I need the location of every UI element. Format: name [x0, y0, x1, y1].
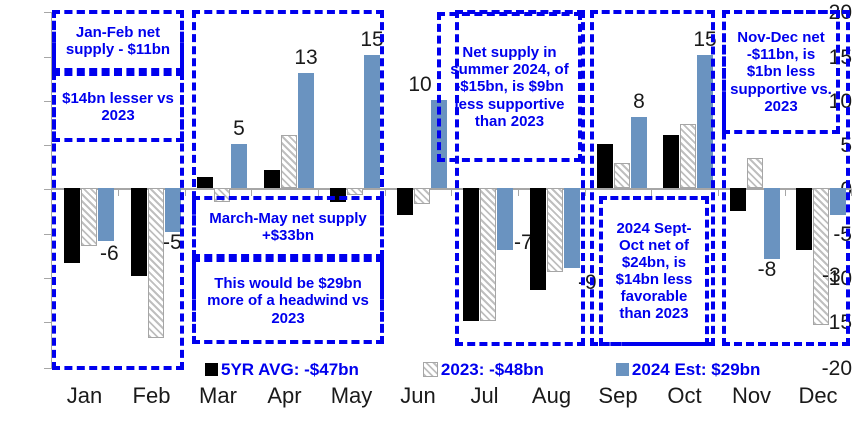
x-label-nov: Nov	[718, 385, 785, 407]
legend-swatch-5yr-avg-icon	[205, 363, 218, 376]
x-label-jun: Jun	[385, 385, 451, 407]
x-tick-10	[718, 189, 719, 196]
y-tick-mark-10	[44, 101, 51, 102]
legend-swatch-2024-est-icon	[616, 363, 629, 376]
y-tick-mark-m20	[44, 368, 51, 369]
bar-jun-2023	[414, 188, 430, 204]
bar-jun-5yr-avg	[397, 188, 413, 215]
legend-label-2024-est: 2024 Est: $29bn	[632, 361, 761, 378]
chart-legend: 5YR AVG: -$47bn 2023: -$48bn 2024 Est: $…	[205, 357, 845, 381]
x-tick-2	[185, 189, 186, 196]
x-label-feb: Feb	[118, 385, 185, 407]
callout-nov-dec-net: Nov-Dec net -$11bn, is $1bn less support…	[722, 10, 840, 134]
legend-label-5yr-avg: 5YR AVG: -$47bn	[221, 361, 359, 378]
callout-jan-feb-net-supply: Jan-Feb net supply - $11bn	[52, 10, 184, 72]
group-box-jul-aug	[455, 10, 585, 346]
x-label-jan: Jan	[51, 385, 118, 407]
legend-swatch-2023-icon	[423, 362, 438, 377]
y-tick-mark-20	[44, 12, 51, 13]
legend-label-2023: 2023: -$48bn	[441, 361, 544, 378]
net-supply-bar-chart: 20 15 10 5 0 -5 -10 -15 -20 Jan	[0, 0, 852, 424]
x-label-mar: Mar	[185, 385, 251, 407]
y-tick-mark-15	[44, 57, 51, 58]
value-label-jun: 10	[398, 74, 442, 95]
callout-march-may-net-supply: March-May net supply +$33bn	[192, 196, 384, 258]
x-label-sep: Sep	[585, 385, 651, 407]
x-tick-8	[585, 189, 586, 196]
x-tick-6	[451, 189, 452, 196]
y-tick-mark-5	[44, 145, 51, 146]
callout-sept-oct-net: 2024 Sept-Oct net of $24bn, is $14bn les…	[599, 196, 709, 346]
x-label-oct: Oct	[651, 385, 718, 407]
x-label-may: May	[318, 385, 385, 407]
x-label-aug: Aug	[518, 385, 585, 407]
x-label-dec: Dec	[785, 385, 851, 407]
callout-jan-feb-lesser: $14bn lesser vs 2023	[52, 72, 184, 142]
y-tick-mark-m5	[44, 234, 51, 235]
callout-march-may-headwind: This would be $29bn more of a headwind v…	[192, 258, 384, 344]
x-label-jul: Jul	[451, 385, 518, 407]
y-tick-mark-0	[44, 189, 51, 190]
legend-item-2023[interactable]: 2023: -$48bn	[423, 361, 544, 378]
y-tick-mark-m10	[44, 278, 51, 279]
x-label-apr: Apr	[251, 385, 318, 407]
x-tick-5	[385, 189, 386, 196]
legend-item-2024-est[interactable]: 2024 Est: $29bn	[616, 361, 761, 378]
legend-item-5yr-avg[interactable]: 5YR AVG: -$47bn	[205, 361, 359, 378]
y-tick-mark-m15	[44, 322, 51, 323]
